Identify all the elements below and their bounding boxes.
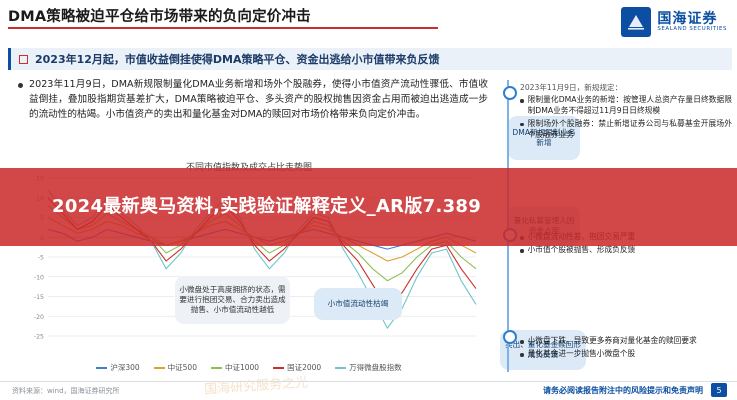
footer-divider [0, 381, 737, 382]
legend-item: 万得微盘股指数 [335, 362, 402, 373]
legend-swatch [335, 367, 346, 369]
bullet-dot-icon [520, 340, 524, 344]
right-item-3-line-2: 量化基金进一步抛售小微盘个股 [520, 349, 732, 360]
slide: DMA策略被迫平仓给市场带来的负向定价冲击 国海证券 SEALAND SECUR… [0, 0, 737, 400]
bullet-dot-icon [18, 83, 23, 88]
bullet-item: 2023年11月9日，DMA新规限制量化DMA业务新增和场外个股融券，使得小市值… [18, 78, 488, 123]
legend-item: 中证500 [154, 362, 197, 373]
right-item-3-line-1: 小微盘下跌，导致更多券商对量化基金的赎回要求 [520, 336, 732, 347]
svg-text:-10: -10 [34, 274, 44, 281]
right-item-1-line-2-text: 限制场外个股融券：禁止新增证券公司与私募基金开展场外个股融券业务 [528, 119, 732, 141]
legend-swatch [273, 367, 284, 369]
company-logo: 国海证券 SEALAND SECURITIES [621, 7, 727, 37]
svg-text:-20: -20 [34, 314, 44, 321]
bullet-dot-icon [520, 123, 524, 127]
page-title: DMA策略被迫平仓给市场带来的负向定价冲击 [8, 5, 311, 26]
logo-name-en: SEALAND SECURITIES [657, 27, 727, 33]
callout-bubble-liquidity: 小市值流动性枯竭 [314, 288, 402, 320]
right-item-1-line-2: 限制场外个股融券：禁止新增证券公司与私募基金开展场外个股融券业务 [520, 119, 732, 141]
slide-header: DMA策略被迫平仓给市场带来的负向定价冲击 国海证券 SEALAND SECUR… [0, 0, 737, 44]
overlay-text: 2024最新奥马资料,实践验证解释定义_AR版7.389 [0, 194, 521, 220]
bullet-text: 2023年11月9日，DMA新规限制量化DMA业务新增和场外个股融券，使得小市值… [29, 78, 488, 123]
right-item-3-line-1-text: 小微盘下跌，导致更多券商对量化基金的赎回要求 [528, 336, 697, 347]
chart-legend: 沪深300中证500中证1000国证2000万得微盘股指数 [14, 362, 484, 373]
svg-text:-25: -25 [34, 334, 44, 341]
legend-item: 沪深300 [96, 362, 139, 373]
right-item-3: 小微盘下跌，导致更多券商对量化基金的赎回要求 量化基金进一步抛售小微盘个股 [520, 336, 732, 362]
bullet-dot-icon [520, 99, 524, 103]
overlay-banner: 2024最新奥马资料,实践验证解释定义_AR版7.389 [0, 168, 737, 246]
footer-disclaimer: 请务必阅读报告附注中的风险提示和免责声明 [543, 385, 703, 396]
right-item-1-line-1: 限制量化DMA业务的新增：按管理人总资产存量日终数据限制DMA业务不得超过11月… [520, 95, 732, 117]
legend-label: 沪深300 [110, 362, 139, 373]
right-item-1-head: 2023年11月9日，新规规定： [520, 82, 732, 93]
legend-label: 中证1000 [225, 362, 259, 373]
left-text-block: 2023年11月9日，DMA新规限制量化DMA业务新增和场外个股融券，使得小市值… [18, 78, 488, 123]
logo-text: 国海证券 SEALAND SECURITIES [657, 12, 727, 32]
timeline-dot-3 [503, 330, 517, 344]
bullet-dot-icon [520, 353, 524, 357]
chart-watermark: 国海研究服务之光 [203, 371, 308, 397]
footer-source: 资料来源：wind，国海证券研究所 [12, 386, 120, 396]
logo-mark-icon [621, 7, 651, 37]
svg-text:-5: -5 [38, 255, 44, 262]
legend-swatch [211, 367, 222, 369]
timeline-dot-1 [503, 86, 517, 100]
section-banner-text: 2023年12月起，市值收益倒挂使得DMA策略平仓、资金出逃给小市值带来负反馈 [35, 51, 440, 67]
legend-label: 万得微盘股指数 [349, 362, 402, 373]
callout-bubble-crowding: 小微盘处于高度拥挤的状态，需要进行抱团交易、合力卖出造成抛售、小市值流动性越低 [175, 276, 290, 324]
legend-item: 国证2000 [273, 362, 321, 373]
legend-swatch [96, 367, 107, 369]
legend-item: 中证1000 [211, 362, 259, 373]
title-underline [8, 27, 438, 29]
right-item-2-line-2: 小市值个股被抛售、形成负反馈 [520, 245, 732, 256]
right-item-1-line-1-text: 限制量化DMA业务的新增：按管理人总资产存量日终数据限制DMA业务不得超过11月… [528, 95, 732, 117]
bullet-dot-icon [520, 249, 524, 253]
right-item-1: 2023年11月9日，新规规定： 限制量化DMA业务的新增：按管理人总资产存量日… [520, 82, 732, 143]
legend-label: 国证2000 [287, 362, 321, 373]
section-banner: 2023年12月起，市值收益倒挂使得DMA策略平仓、资金出逃给小市值带来负反馈 [8, 48, 732, 70]
logo-name-cn: 国海证券 [657, 12, 727, 27]
square-bullet-icon [19, 55, 28, 64]
right-item-2-line-2-text: 小市值个股被抛售、形成负反馈 [528, 245, 636, 256]
page-number: 5 [711, 383, 727, 397]
legend-label: 中证500 [168, 362, 197, 373]
legend-swatch [154, 367, 165, 369]
svg-text:-15: -15 [34, 294, 44, 301]
right-item-3-line-2-text: 量化基金进一步抛售小微盘个股 [528, 349, 636, 360]
